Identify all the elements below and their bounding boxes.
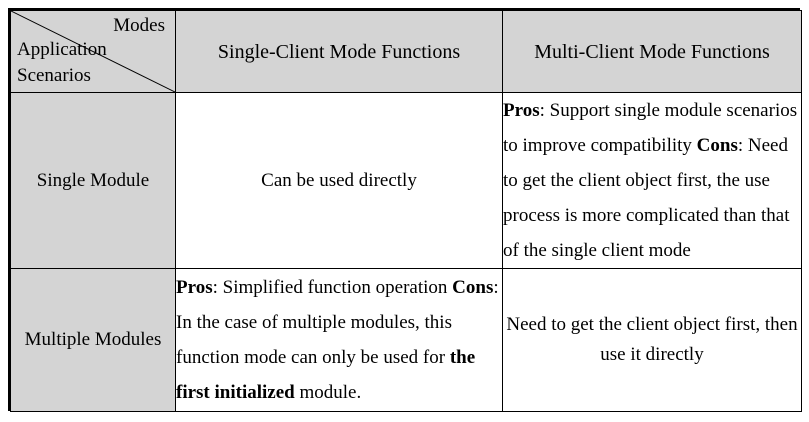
row-header-single-module: Single Module (11, 93, 176, 269)
corner-header-cell: Modes Application Scenarios (11, 11, 176, 93)
cell-single-module-multi-client: Pros: Support single module scenarios to… (503, 93, 802, 269)
cell-single-module-single-client: Can be used directly (176, 93, 503, 269)
corner-scenarios-label: Scenarios (17, 63, 91, 89)
cell-multiple-modules-multi-client: Need to get the client object first, the… (503, 269, 802, 412)
pros-label-multi-single: Pros (176, 277, 213, 298)
cons-label-single-multi: Cons (697, 135, 738, 156)
pros-text-multi-single: : Simplified function operation (213, 277, 448, 298)
table-header-row: Modes Application Scenarios Single-Clien… (11, 11, 802, 93)
cons-text-after-multi-single: module. (295, 382, 362, 403)
corner-application-label: Application (17, 37, 107, 63)
column-header-multi-client: Multi-Client Mode Functions (503, 11, 802, 93)
table-row-single-module: Single Module Can be used directly Pros:… (11, 93, 802, 269)
cons-label-multi-single: Cons (452, 277, 493, 298)
corner-modes-label: Modes (113, 13, 165, 38)
comparison-table-container: Modes Application Scenarios Single-Clien… (8, 8, 800, 411)
row-header-multiple-modules: Multiple Modules (11, 269, 176, 412)
column-header-single-client: Single-Client Mode Functions (176, 11, 503, 93)
table-row-multiple-modules: Multiple Modules Pros: Simplified functi… (11, 269, 802, 412)
mode-comparison-table: Modes Application Scenarios Single-Clien… (10, 10, 802, 412)
pros-label-single-multi: Pros (503, 100, 540, 121)
cell-multiple-modules-single-client: Pros: Simplified function operation Cons… (176, 269, 503, 412)
